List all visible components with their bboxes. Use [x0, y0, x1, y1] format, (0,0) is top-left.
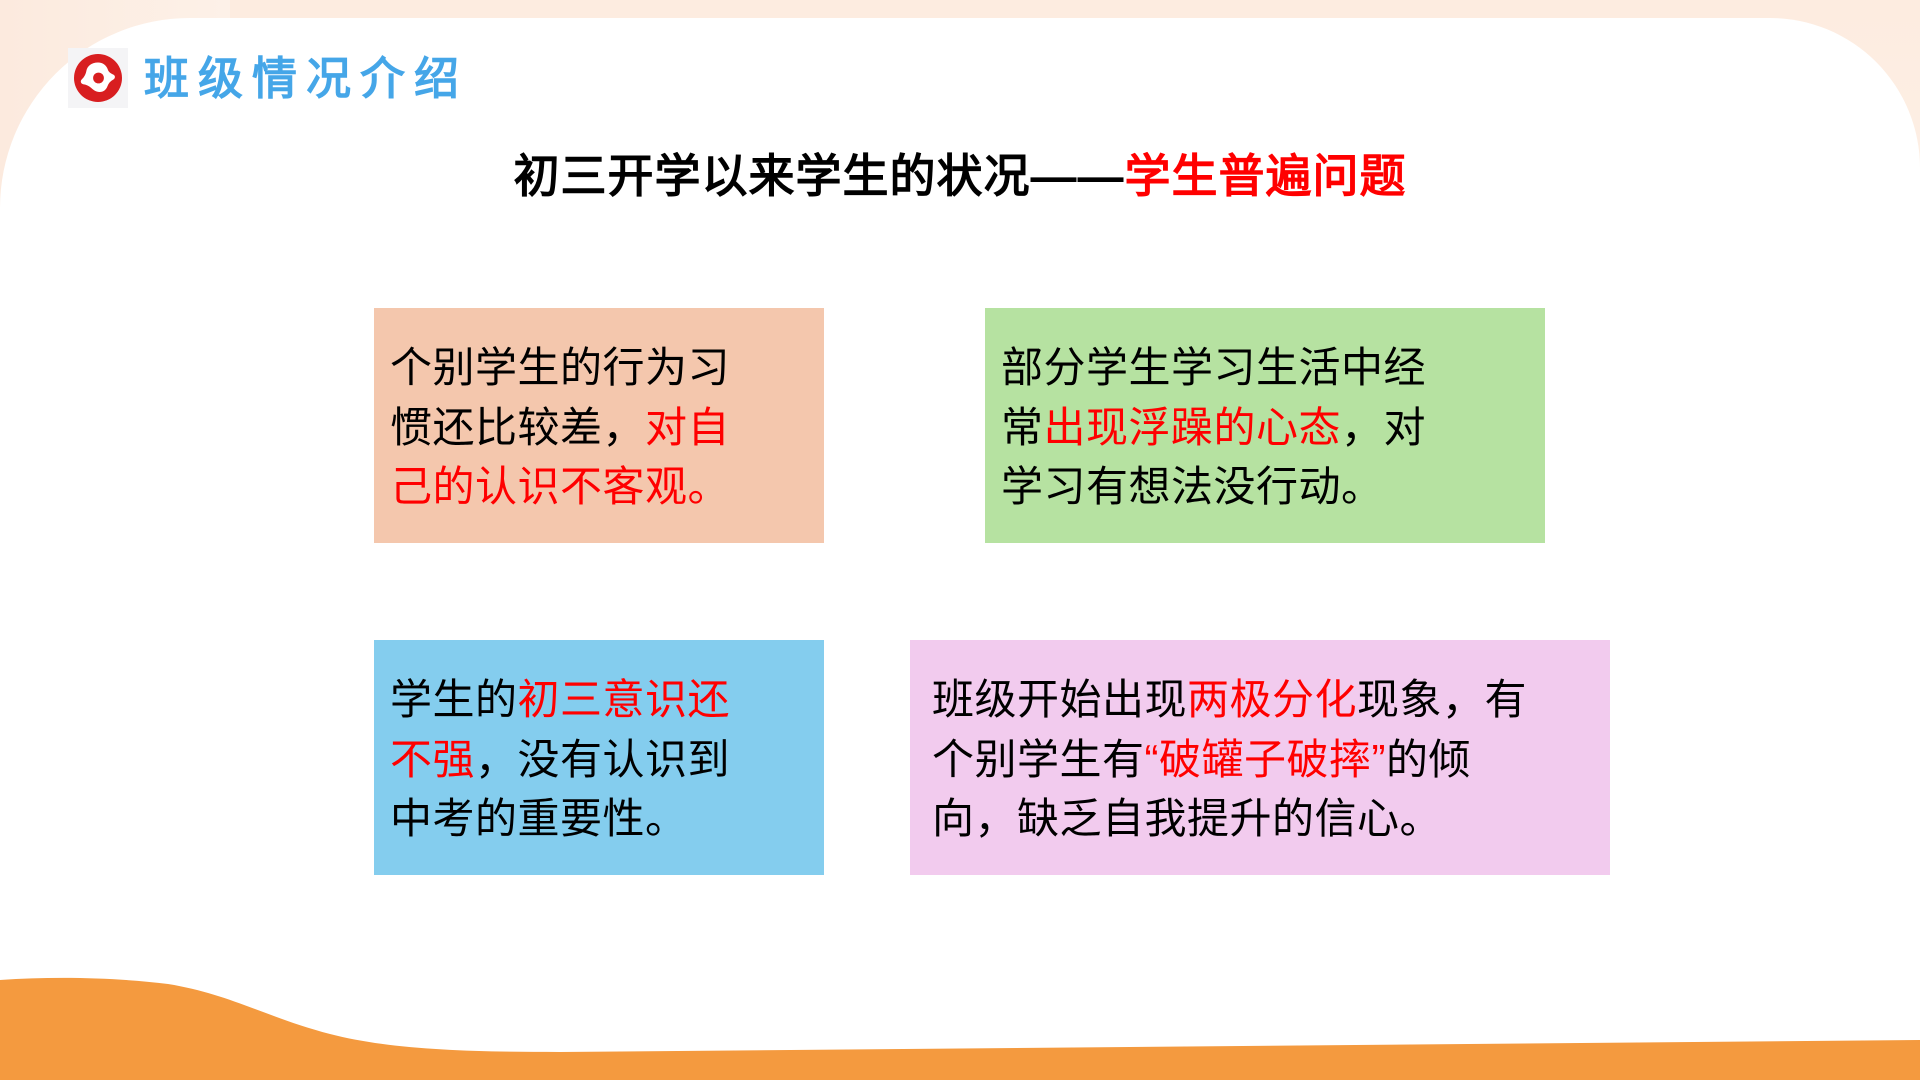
box-text-line: 个别学生的行为习 [390, 338, 810, 398]
body-text: 的倾 [1386, 736, 1471, 783]
highlight-text: 两极分化 [1187, 676, 1357, 723]
box-impetuous-mindset: 部分学生学习生活中经常出现浮躁的心态，对学习有想法没行动。 [985, 308, 1545, 543]
body-text: 个别学生的行为习 [390, 344, 730, 391]
body-text: 常 [1001, 404, 1044, 451]
box-text-line: 己的认识不客观。 [390, 457, 810, 517]
body-text: 学生的 [390, 676, 518, 723]
box-text-line: 学生的初三意识还 [390, 670, 810, 730]
header-title: 班级情况介绍 [144, 56, 468, 101]
box-polarization: 班级开始出现两极分化现象，有个别学生有“破罐子破摔”的倾向，缺乏自我提升的信心。 [910, 640, 1610, 875]
box-grade-nine-awareness: 学生的初三意识还不强，没有认识到中考的重要性。 [374, 640, 824, 875]
page-title: 初三开学以来学生的状况——学生普遍问题 [0, 140, 1920, 206]
red-circle-triad-logo-icon [70, 50, 126, 106]
box-text-line: 不强，没有认识到 [390, 730, 810, 790]
body-text: 班级开始出现 [932, 676, 1187, 723]
body-text: 惯还比较差， [390, 404, 645, 451]
highlight-text: “破罐子破摔” [1145, 736, 1386, 783]
body-text: 个别学生有 [932, 736, 1145, 783]
slide-canvas: 班级情况介绍 初三开学以来学生的状况——学生普遍问题 个别学生的行为习惯还比较差… [0, 0, 1920, 1080]
slide-header: 班级情况介绍 [68, 48, 468, 108]
body-text: 部分学生学习生活中经 [1001, 344, 1426, 391]
box-text-line: 惯还比较差，对自 [390, 398, 810, 458]
box-text-line: 部分学生学习生活中经 [1001, 338, 1531, 398]
highlight-text: 对自 [645, 404, 730, 451]
highlight-text: 出现浮躁的心态 [1044, 404, 1342, 451]
body-text: ，没有认识到 [475, 736, 730, 783]
highlight-text: 己的认识不客观。 [390, 463, 730, 510]
box-text-line: 向，缺乏自我提升的信心。 [932, 789, 1596, 849]
logo-badge [68, 48, 128, 108]
box-text-line: 学习有想法没行动。 [1001, 457, 1531, 517]
highlight-text: 不强 [390, 736, 475, 783]
body-text: 现象，有 [1357, 676, 1527, 723]
headline-accent: 学生普遍问题 [1125, 150, 1407, 202]
body-text: 向，缺乏自我提升的信心。 [932, 795, 1442, 842]
body-text: 学习有想法没行动。 [1001, 463, 1384, 510]
box-text-line: 班级开始出现两极分化现象，有 [932, 670, 1596, 730]
body-text: ，对 [1341, 404, 1426, 451]
box-individual-behavior: 个别学生的行为习惯还比较差，对自己的认识不客观。 [374, 308, 824, 543]
box-text-line: 中考的重要性。 [390, 789, 810, 849]
box-text-line: 常出现浮躁的心态，对 [1001, 398, 1531, 458]
box-text-line: 个别学生有“破罐子破摔”的倾 [932, 730, 1596, 790]
highlight-text: 初三意识还 [518, 676, 731, 723]
body-text: 中考的重要性。 [390, 795, 688, 842]
headline-plain: 初三开学以来学生的状况—— [514, 150, 1125, 202]
